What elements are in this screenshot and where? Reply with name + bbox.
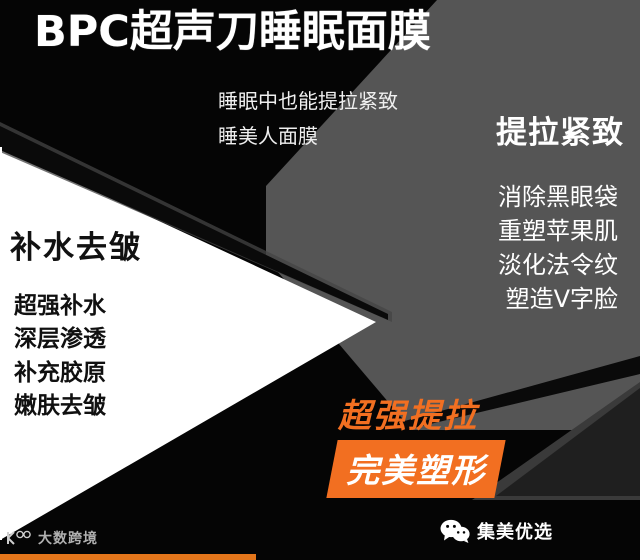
watermark: 大数跨境 bbox=[6, 528, 98, 548]
cta-badge-label: 完美塑形 bbox=[346, 444, 486, 492]
right-panel-benefit-list: 消除黑眼袋 重塑苹果肌 淡化法令纹 塑造V字脸 bbox=[498, 180, 618, 316]
center-subtitle-group: 睡眠中也能提拉紧致 睡美人面膜 bbox=[218, 84, 398, 154]
dsqj-logo-icon bbox=[6, 530, 32, 546]
watermark-text: 大数跨境 bbox=[38, 528, 98, 548]
cta-block: 超强提拉 完美塑形 bbox=[332, 398, 592, 498]
wechat-account-name: 集美优选 bbox=[477, 518, 553, 544]
cta-badge: 完美塑形 bbox=[326, 440, 505, 498]
wechat-icon bbox=[440, 519, 470, 543]
center-subtitle-line-2: 睡美人面膜 bbox=[218, 119, 398, 154]
left-benefit-item: 超强补水 bbox=[14, 290, 106, 323]
center-subtitle-line-1: 睡眠中也能提拉紧致 bbox=[218, 84, 398, 119]
left-benefit-item: 深层渗透 bbox=[14, 323, 106, 356]
poster-canvas: BPC超声刀睡眠面膜 睡眠中也能提拉紧致 睡美人面膜 提拉紧致 消除黑眼袋 重塑… bbox=[0, 0, 640, 560]
wechat-account-row: 集美优选 bbox=[440, 518, 553, 544]
left-panel-benefit-list: 超强补水 深层渗透 补充胶原 嫩肤去皱 bbox=[14, 290, 106, 423]
page-title: BPC超声刀睡眠面膜 bbox=[34, 8, 431, 56]
right-benefit-item: 重塑苹果肌 bbox=[498, 214, 618, 248]
white-left-edge bbox=[0, 147, 2, 540]
right-panel-heading: 提拉紧致 bbox=[496, 107, 624, 152]
left-benefit-item: 补充胶原 bbox=[14, 357, 106, 390]
right-benefit-item: 消除黑眼袋 bbox=[498, 180, 618, 214]
right-benefit-item: 塑造V字脸 bbox=[498, 282, 618, 316]
right-benefit-item: 淡化法令纹 bbox=[498, 248, 618, 282]
bottom-accent-bar bbox=[0, 554, 256, 560]
left-benefit-item: 嫩肤去皱 bbox=[14, 390, 106, 423]
left-panel-heading: 补水去皱 bbox=[10, 222, 142, 267]
cta-headline: 超强提拉 bbox=[332, 398, 592, 434]
